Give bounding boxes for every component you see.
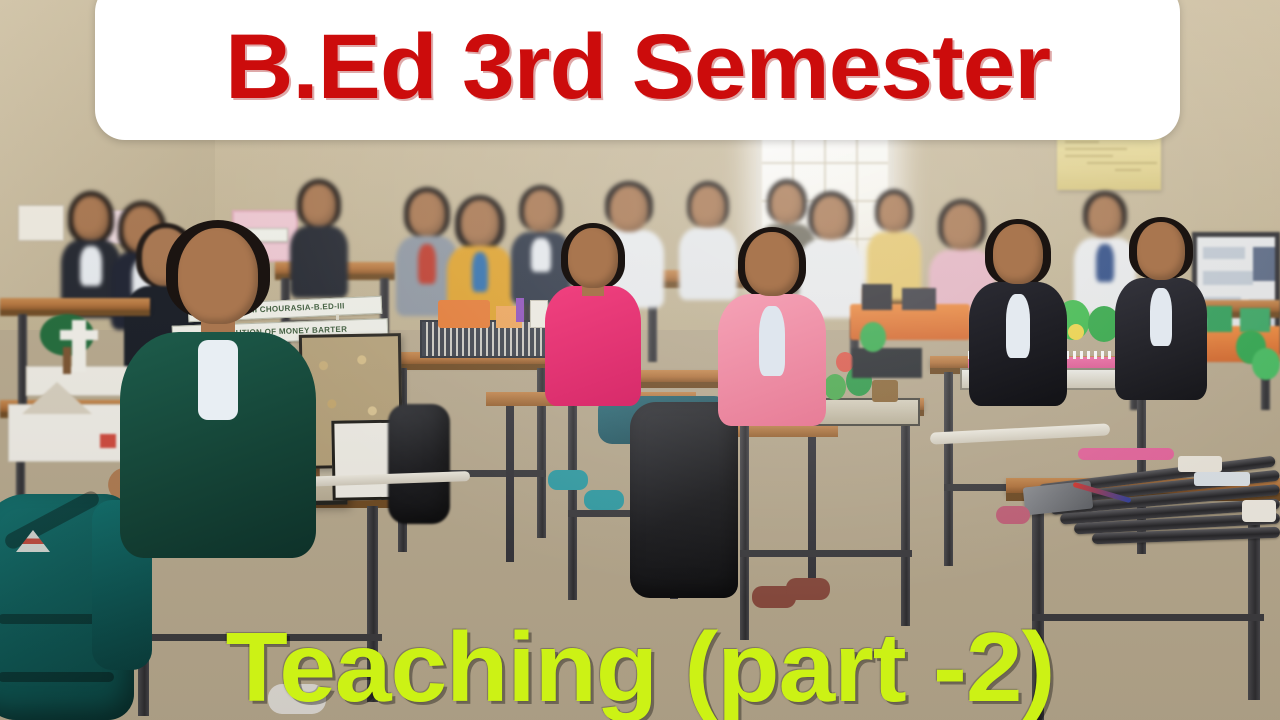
sandal [786,578,830,600]
youtube-thumbnail: SAKSHI CHOURASIA-B.ED-III EVOLUTION OF M… [0,0,1280,720]
student-black-sweater [972,224,1064,438]
green-model [852,322,922,378]
green-model [1236,330,1280,400]
model-block [872,380,898,402]
mini-poster [18,205,64,241]
title-plate: B.Ed 3rd Semester [95,0,1180,140]
sandal [584,490,624,510]
subtitle: Teaching (part -2) [0,618,1280,716]
sandal [548,470,588,490]
page-title: B.Ed 3rd Semester [225,21,1050,113]
shoe [996,506,1030,524]
black-backpack [630,402,738,598]
student-with-glasses [1118,222,1204,430]
yellow-notice-poster [1057,136,1161,190]
student-foreground-green [128,224,308,554]
black-backpack [388,404,450,524]
tree-puff [824,374,846,400]
